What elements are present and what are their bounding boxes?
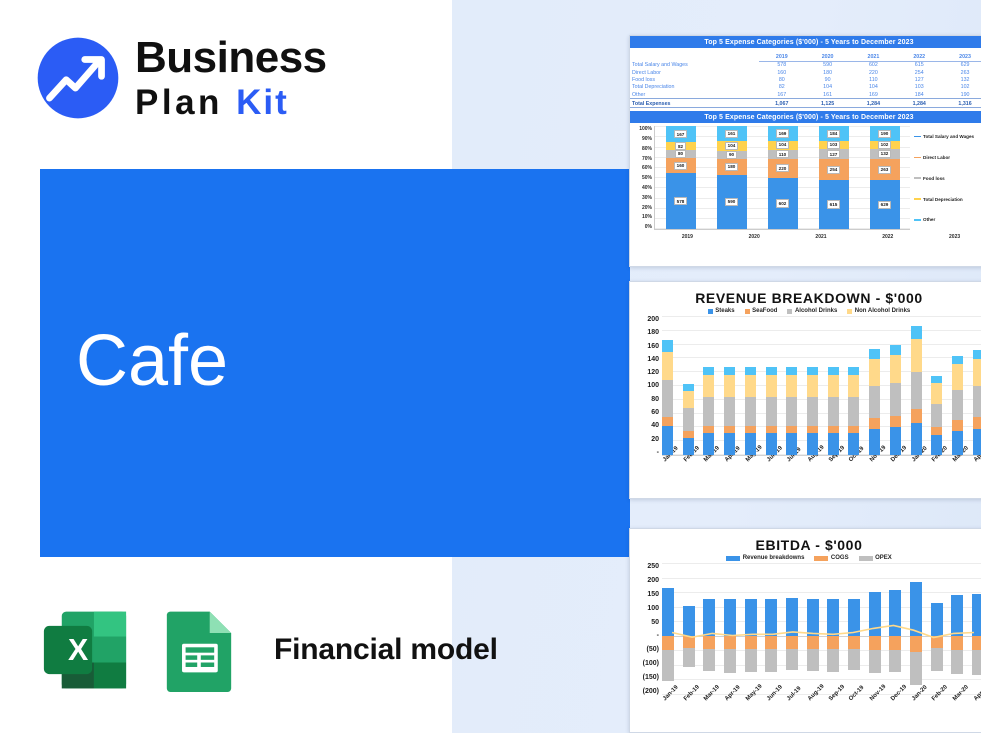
cell: 167 bbox=[759, 91, 805, 99]
bar-segment bbox=[745, 375, 756, 397]
cell: 1,284 bbox=[851, 99, 897, 108]
y-tick: 150 bbox=[647, 591, 659, 598]
cell: 1,067 bbox=[759, 99, 805, 108]
bar-value-label: 110 bbox=[776, 150, 789, 158]
col-head-2023: 2023 bbox=[942, 52, 981, 61]
legend-item: Revenue breakdowns bbox=[726, 555, 804, 561]
stacked-bar bbox=[683, 316, 694, 455]
y-tick: 20% bbox=[642, 205, 652, 211]
row-label: Food loss bbox=[630, 76, 759, 83]
legend-marker bbox=[708, 309, 713, 314]
bar-segment bbox=[931, 383, 942, 403]
bar-segment: 254 bbox=[819, 159, 849, 179]
expense-stacked-chart: 100%90%80%70%60%50%40%30%20%10%0% 167828… bbox=[630, 126, 981, 232]
bar-segment bbox=[724, 397, 735, 425]
cell: 110 bbox=[851, 76, 897, 83]
cell: 1,284 bbox=[896, 99, 942, 108]
ebitda-chart-plot bbox=[662, 563, 981, 695]
ebitda-chart-legend: Revenue breakdownsCOGSOPEX bbox=[630, 555, 981, 563]
y-tick: 200 bbox=[647, 316, 659, 323]
legend-label: Food loss bbox=[923, 176, 945, 181]
y-tick: 40% bbox=[642, 185, 652, 191]
cell: 82 bbox=[759, 84, 805, 91]
bar-segment bbox=[662, 426, 673, 455]
bar-segment bbox=[807, 426, 818, 433]
y-tick: 100 bbox=[647, 605, 659, 612]
legend-marker bbox=[847, 309, 852, 314]
cell: 263 bbox=[942, 69, 981, 76]
bar-value-label: 629 bbox=[878, 201, 891, 209]
y-tick: 70% bbox=[642, 156, 652, 162]
cell: 104 bbox=[851, 84, 897, 91]
legend-label: COGS bbox=[831, 555, 849, 561]
bar-segment bbox=[848, 433, 859, 455]
ebitda-chart-plot-area: 25020015010050-(50)(100)(150)(200) bbox=[630, 563, 981, 695]
bar-segment bbox=[745, 397, 756, 425]
legend-label: Other bbox=[923, 217, 935, 222]
legend-marker bbox=[914, 219, 921, 221]
legend-item: Total Depreciation bbox=[914, 197, 981, 202]
revenue-breakdown-card[interactable]: REVENUE BREAKDOWN - $'000 SteaksSeaFoodA… bbox=[629, 281, 981, 499]
col-head-2022: 2022 bbox=[896, 52, 942, 61]
y-tick: 160 bbox=[647, 343, 659, 350]
cell: 254 bbox=[896, 69, 942, 76]
trend-arrow-circle-icon bbox=[36, 36, 120, 120]
bar-segment: 220 bbox=[768, 159, 798, 178]
stacked-bar bbox=[724, 316, 735, 455]
stacked-bar: 16110490180590 bbox=[717, 126, 747, 229]
bar-segment bbox=[890, 427, 901, 455]
y-tick: 50% bbox=[642, 175, 652, 181]
y-tick: - bbox=[657, 632, 659, 639]
stacked-bar bbox=[766, 316, 777, 455]
bar-segment: 104 bbox=[717, 141, 747, 151]
bar-value-label: 127 bbox=[827, 150, 840, 158]
table-row: Total Salary and Wages 578 590 602 615 6… bbox=[630, 61, 981, 69]
bar-value-label: 161 bbox=[725, 130, 738, 138]
bar-value-label: 80 bbox=[675, 150, 685, 158]
y-tick: 80 bbox=[651, 396, 659, 403]
bar-segment bbox=[724, 375, 735, 397]
bar-value-label: 190 bbox=[878, 130, 891, 138]
format-badges-row: X Financial model bbox=[40, 608, 498, 692]
expense-chart-x-axis: 20192020202120222023 bbox=[654, 232, 981, 240]
revenue-chart-plot bbox=[662, 316, 981, 456]
bar-segment: 132 bbox=[870, 149, 900, 159]
bar-segment bbox=[848, 375, 859, 397]
bar-segment bbox=[828, 433, 839, 455]
legend-marker bbox=[914, 136, 921, 138]
bar-segment: 102 bbox=[870, 141, 900, 149]
stacked-bar: 190102132263629 bbox=[870, 126, 900, 229]
bar-segment bbox=[766, 367, 777, 375]
y-tick: 90% bbox=[642, 136, 652, 142]
row-label: Direct Labor bbox=[630, 69, 759, 76]
cell: 578 bbox=[759, 61, 805, 69]
revenue-chart-y-axis: 20018016014012010080604020- bbox=[632, 316, 662, 456]
brand-plan-text: Plan bbox=[135, 83, 236, 122]
bar-segment bbox=[869, 429, 880, 455]
legend-label: Direct Labor bbox=[923, 155, 950, 160]
bar-segment bbox=[869, 418, 880, 428]
bar-segment: 169 bbox=[768, 126, 798, 140]
bar-segment bbox=[662, 352, 673, 380]
bar-segment bbox=[931, 376, 942, 384]
bar-segment bbox=[724, 367, 735, 375]
ebitda-line-series bbox=[662, 563, 981, 695]
bar-segment bbox=[828, 397, 839, 425]
bar-segment bbox=[745, 426, 756, 433]
bar-segment: 110 bbox=[768, 150, 798, 159]
legend-label: OPEX bbox=[875, 555, 892, 561]
revenue-chart-title: REVENUE BREAKDOWN - $'000 bbox=[630, 282, 981, 308]
legend-label: Revenue breakdowns bbox=[743, 555, 805, 561]
bar-segment bbox=[869, 386, 880, 418]
bar-value-label: 104 bbox=[725, 142, 738, 150]
bar-segment bbox=[662, 417, 673, 426]
bar-segment bbox=[952, 420, 963, 430]
revenue-chart-legend: SteaksSeaFoodAlcohol DrinksNon Alcohol D… bbox=[630, 308, 981, 316]
bar-segment: 161 bbox=[717, 126, 747, 141]
bar-segment bbox=[683, 384, 694, 391]
expense-table-body: Total Salary and Wages 578 590 602 615 6… bbox=[630, 61, 981, 108]
bar-segment bbox=[662, 340, 673, 352]
bar-segment bbox=[807, 367, 818, 375]
bar-segment bbox=[952, 364, 963, 390]
bar-value-label: 103 bbox=[827, 141, 840, 149]
brand-logo: Business Plan Kit bbox=[36, 33, 327, 123]
legend-item: OPEX bbox=[859, 555, 892, 561]
cell: 590 bbox=[805, 61, 851, 69]
bar-segment bbox=[911, 372, 922, 410]
ebitda-card[interactable]: EBITDA - $'000 Revenue breakdownsCOGSOPE… bbox=[629, 528, 981, 733]
bar-segment: 590 bbox=[717, 175, 747, 229]
x-tick: 2023 bbox=[940, 234, 970, 240]
y-tick: 50 bbox=[651, 619, 659, 626]
col-head-2019: 2019 bbox=[759, 52, 805, 61]
legend-item: Alcohol Drinks bbox=[787, 308, 837, 314]
legend-marker bbox=[726, 556, 740, 561]
bar-segment bbox=[848, 426, 859, 433]
legend-marker bbox=[814, 556, 828, 561]
y-tick: 250 bbox=[647, 563, 659, 570]
table-header-row: 2019 2020 2021 2022 2023 bbox=[630, 52, 981, 61]
bar-segment bbox=[973, 429, 981, 455]
ebitda-chart-title: EBITDA - $'000 bbox=[630, 529, 981, 555]
bar-value-label: 90 bbox=[726, 151, 736, 159]
bar-segment bbox=[766, 397, 777, 425]
bar-segment bbox=[683, 391, 694, 408]
legend-label: Total Salary and Wages bbox=[923, 134, 974, 139]
bar-segment bbox=[807, 397, 818, 425]
bar-segment bbox=[703, 367, 714, 375]
bar-segment: 160 bbox=[666, 158, 696, 173]
cell: 220 bbox=[851, 69, 897, 76]
bar-segment bbox=[911, 423, 922, 455]
y-tick: 30% bbox=[642, 195, 652, 201]
stacked-bar bbox=[807, 316, 818, 455]
bar-value-label: 102 bbox=[878, 141, 891, 149]
page-title: Cafe bbox=[76, 325, 228, 397]
stacked-bar bbox=[828, 316, 839, 455]
table-row: Direct Labor 160 180 220 254 263 bbox=[630, 69, 981, 76]
bar-segment bbox=[911, 409, 922, 423]
bar-segment bbox=[766, 433, 777, 455]
bar-segment bbox=[848, 367, 859, 375]
cell: 602 bbox=[851, 61, 897, 69]
cell: 102 bbox=[942, 84, 981, 91]
bar-segment bbox=[890, 383, 901, 416]
bar-segment: 578 bbox=[666, 173, 696, 229]
legend-marker bbox=[787, 309, 792, 314]
legend-item: COGS bbox=[814, 555, 848, 561]
y-tick: 180 bbox=[647, 329, 659, 336]
table-row: Other 167 161 169 184 190 bbox=[630, 91, 981, 99]
expense-table: 2019 2020 2021 2022 2023 Total Salary an… bbox=[630, 52, 981, 108]
format-caption: Financial model bbox=[274, 633, 498, 667]
stacked-bar bbox=[931, 316, 942, 455]
revenue-chart-x-axis: Jan-19Feb-19Mar-19Apr-19May-19Jun-19Jul-… bbox=[662, 456, 981, 465]
bar-segment bbox=[848, 397, 859, 425]
bar-segment bbox=[931, 427, 942, 435]
cell: 132 bbox=[942, 76, 981, 83]
bar-value-label: 602 bbox=[776, 199, 789, 207]
col-head-2020: 2020 bbox=[805, 52, 851, 61]
expense-chart-banner: Top 5 Expense Categories ($'000) - 5 Yea… bbox=[630, 111, 981, 123]
stacked-bar bbox=[973, 316, 981, 455]
bar-segment bbox=[766, 426, 777, 433]
y-tick: (50) bbox=[647, 646, 659, 653]
google-sheets-icon bbox=[154, 608, 244, 692]
revenue-chart-plot-area: 20018016014012010080604020- bbox=[630, 316, 981, 456]
table-row: Food loss 80 90 110 127 132 bbox=[630, 76, 981, 83]
bar-segment bbox=[766, 375, 777, 397]
legend-marker bbox=[914, 198, 921, 200]
expense-categories-card[interactable]: Top 5 Expense Categories ($'000) - 5 Yea… bbox=[629, 35, 981, 267]
bar-segment bbox=[786, 367, 797, 375]
bar-segment: 167 bbox=[666, 126, 696, 142]
stacked-bar: 184103127254615 bbox=[819, 126, 849, 229]
cell: 161 bbox=[805, 91, 851, 99]
bar-segment bbox=[890, 345, 901, 355]
bar-segment bbox=[683, 408, 694, 430]
bar-segment bbox=[828, 426, 839, 433]
bar-value-label: 180 bbox=[725, 163, 738, 171]
bar-segment: 190 bbox=[870, 126, 900, 141]
table-total-row: Total Expenses 1,067 1,125 1,284 1,284 1… bbox=[630, 99, 981, 108]
bar-segment bbox=[703, 433, 714, 455]
y-tick: - bbox=[657, 449, 659, 456]
cell: 169 bbox=[851, 91, 897, 99]
stacked-bar: 169104110220602 bbox=[768, 126, 798, 229]
bar-segment: 615 bbox=[819, 180, 849, 229]
bar-segment bbox=[973, 350, 981, 359]
bar-value-label: 220 bbox=[776, 164, 789, 172]
brand-wordmark: Business Plan Kit bbox=[135, 33, 327, 123]
row-label: Total Expenses bbox=[630, 99, 759, 108]
y-tick: 0% bbox=[645, 224, 652, 230]
y-tick: (150) bbox=[643, 674, 659, 681]
bar-value-label: 104 bbox=[776, 141, 789, 149]
legend-item: Non Alcohol Drinks bbox=[847, 308, 910, 314]
y-tick: 120 bbox=[647, 369, 659, 376]
bar-segment bbox=[828, 367, 839, 375]
bar-value-label: 184 bbox=[827, 130, 840, 138]
stacked-bar bbox=[662, 316, 673, 455]
bar-segment bbox=[807, 433, 818, 455]
legend-label: Non Alcohol Drinks bbox=[855, 308, 910, 314]
legend-marker bbox=[914, 177, 921, 179]
y-tick: 80% bbox=[642, 146, 652, 152]
bar-segment bbox=[973, 417, 981, 428]
legend-item: Steaks bbox=[708, 308, 735, 314]
bar-value-label: 578 bbox=[674, 197, 687, 205]
row-label: Total Salary and Wages bbox=[630, 61, 759, 69]
bar-segment bbox=[683, 438, 694, 455]
bar-segment bbox=[724, 433, 735, 455]
bar-segment bbox=[952, 431, 963, 455]
bar-value-label: 263 bbox=[878, 166, 891, 174]
bar-segment bbox=[786, 375, 797, 397]
bar-segment bbox=[828, 375, 839, 397]
legend-marker bbox=[914, 157, 921, 159]
bar-segment bbox=[683, 431, 694, 438]
cell: 615 bbox=[896, 61, 942, 69]
cell: 80 bbox=[759, 76, 805, 83]
cell: 90 bbox=[805, 76, 851, 83]
cell: 180 bbox=[805, 69, 851, 76]
legend-label: Alcohol Drinks bbox=[795, 308, 837, 314]
bar-segment: 602 bbox=[768, 178, 798, 229]
expense-table-banner: Top 5 Expense Categories ($'000) - 5 Yea… bbox=[630, 36, 981, 48]
bar-segment bbox=[724, 426, 735, 433]
legend-item: Direct Labor bbox=[914, 155, 981, 160]
bar-segment: 82 bbox=[666, 142, 696, 150]
stacked-bar bbox=[745, 316, 756, 455]
stacked-bar bbox=[890, 316, 901, 455]
bar-segment bbox=[931, 404, 942, 427]
bar-segment bbox=[973, 359, 981, 386]
bar-segment: 104 bbox=[768, 141, 798, 150]
bar-segment bbox=[869, 349, 880, 359]
brand-line-business: Business bbox=[135, 35, 327, 81]
legend-item: Total Salary and Wages bbox=[914, 134, 981, 139]
legend-label: Total Depreciation bbox=[923, 197, 963, 202]
y-tick: (200) bbox=[643, 688, 659, 695]
stacked-bar bbox=[911, 316, 922, 455]
y-tick: 40 bbox=[651, 422, 659, 429]
stacked-bar bbox=[703, 316, 714, 455]
bar-segment bbox=[703, 375, 714, 397]
table-row: Total Depreciation 82 104 104 103 102 bbox=[630, 84, 981, 91]
bar-segment bbox=[890, 416, 901, 427]
bar-segment bbox=[703, 426, 714, 433]
bar-segment: 103 bbox=[819, 141, 849, 149]
y-tick: (100) bbox=[643, 660, 659, 667]
row-label: Other bbox=[630, 91, 759, 99]
cell: 1,125 bbox=[805, 99, 851, 108]
y-tick: 20 bbox=[651, 436, 659, 443]
col-head-2021: 2021 bbox=[851, 52, 897, 61]
bar-segment bbox=[952, 356, 963, 364]
expense-chart-plot: 1678280160578161104901805901691041102206… bbox=[654, 126, 910, 230]
stacked-bar bbox=[869, 316, 880, 455]
legend-item: SeaFood bbox=[745, 308, 778, 314]
cell: 127 bbox=[896, 76, 942, 83]
y-tick: 100 bbox=[647, 382, 659, 389]
bar-segment bbox=[807, 375, 818, 397]
bar-value-label: 254 bbox=[827, 166, 840, 174]
stacked-bar bbox=[952, 316, 963, 455]
bar-segment bbox=[869, 359, 880, 386]
bar-value-label: 615 bbox=[827, 200, 840, 208]
cell: 103 bbox=[896, 84, 942, 91]
bar-segment: 263 bbox=[870, 159, 900, 180]
bar-segment bbox=[952, 390, 963, 420]
row-label: Total Depreciation bbox=[630, 84, 759, 91]
bar-segment bbox=[745, 433, 756, 455]
brand-line-plan-kit: Plan Kit bbox=[135, 83, 327, 123]
cell: 104 bbox=[805, 84, 851, 91]
microsoft-excel-icon: X bbox=[40, 608, 130, 692]
cell: 1,316 bbox=[942, 99, 981, 108]
stacked-bar: 1678280160578 bbox=[666, 126, 696, 229]
bar-segment bbox=[662, 380, 673, 417]
bar-segment: 180 bbox=[717, 159, 747, 175]
bar-segment bbox=[890, 355, 901, 383]
legend-label: SeaFood bbox=[752, 308, 777, 314]
bar-segment bbox=[911, 326, 922, 339]
svg-text:X: X bbox=[68, 633, 88, 667]
cell: 184 bbox=[896, 91, 942, 99]
ebitda-chart-x-axis: Jan-19Feb-19Mar-19Apr-19May-19Jun-19Jul-… bbox=[662, 695, 981, 704]
x-tick: 2020 bbox=[739, 234, 769, 240]
legend-marker bbox=[745, 309, 750, 314]
expense-chart-legend: Total Salary and WagesDirect LaborFood l… bbox=[910, 126, 981, 230]
bar-value-label: 160 bbox=[674, 162, 687, 170]
cell: 190 bbox=[942, 91, 981, 99]
legend-item: Food loss bbox=[914, 176, 981, 181]
y-tick: 100% bbox=[639, 126, 652, 132]
legend-marker bbox=[859, 556, 873, 561]
bar-segment bbox=[786, 433, 797, 455]
y-tick: 60% bbox=[642, 165, 652, 171]
y-tick: 200 bbox=[647, 577, 659, 584]
bar-segment: 127 bbox=[819, 149, 849, 159]
bar-segment bbox=[786, 397, 797, 425]
bar-segment bbox=[931, 435, 942, 455]
bar-segment: 184 bbox=[819, 126, 849, 141]
bar-value-label: 167 bbox=[674, 130, 687, 138]
bar-segment: 80 bbox=[666, 150, 696, 158]
legend-item: Other bbox=[914, 217, 981, 222]
cell: 160 bbox=[759, 69, 805, 76]
bar-segment bbox=[911, 339, 922, 372]
ebitda-chart-y-axis: 25020015010050-(50)(100)(150)(200) bbox=[632, 563, 662, 695]
col-head-blank bbox=[630, 52, 759, 61]
bar-value-label: 132 bbox=[878, 150, 891, 158]
y-tick: 60 bbox=[651, 409, 659, 416]
cell: 629 bbox=[942, 61, 981, 69]
x-tick: 2022 bbox=[873, 234, 903, 240]
expense-chart-y-axis: 100%90%80%70%60%50%40%30%20%10%0% bbox=[632, 126, 654, 230]
bar-segment: 90 bbox=[717, 151, 747, 159]
bar-segment bbox=[703, 397, 714, 425]
y-tick: 10% bbox=[642, 214, 652, 220]
x-tick: 2021 bbox=[806, 234, 836, 240]
bar-segment: 629 bbox=[870, 180, 900, 229]
bar-value-label: 590 bbox=[725, 198, 738, 206]
